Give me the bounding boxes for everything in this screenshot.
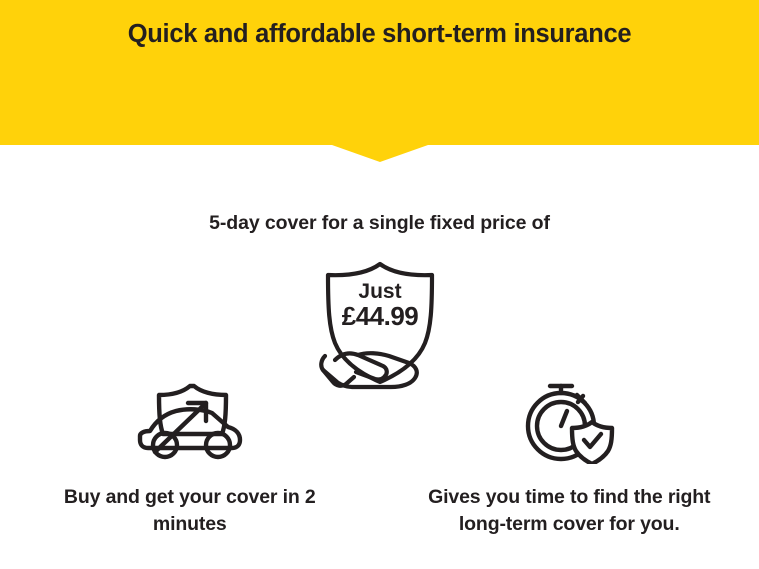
hero-banner: affordable buy Quick and affordable shor… (0, 0, 759, 145)
feature-item-flexibility: Gives you time to find the right long-te… (380, 378, 759, 538)
feature-caption: Gives you time to find the right long-te… (404, 484, 734, 538)
feature-caption: Buy and get your cover in 2 minutes (60, 484, 320, 538)
stopwatch-shield-check-icon (519, 378, 619, 464)
hero-subtitle: Quick and affordable short-term insuranc… (0, 17, 759, 51)
page-title: affordable buy (0, 0, 759, 4)
offer-lead-text: 5-day cover for a single fixed price of (0, 212, 759, 235)
triangle-down-icon (332, 145, 428, 162)
feature-item-speed: Buy and get your cover in 2 minutes (0, 378, 380, 538)
shield-in-hand-icon (309, 256, 451, 391)
hero-title-clip: affordable buy (0, 0, 759, 6)
car-shield-arrow-icon (136, 378, 244, 464)
feature-list: Buy and get your cover in 2 minutes (0, 378, 759, 538)
